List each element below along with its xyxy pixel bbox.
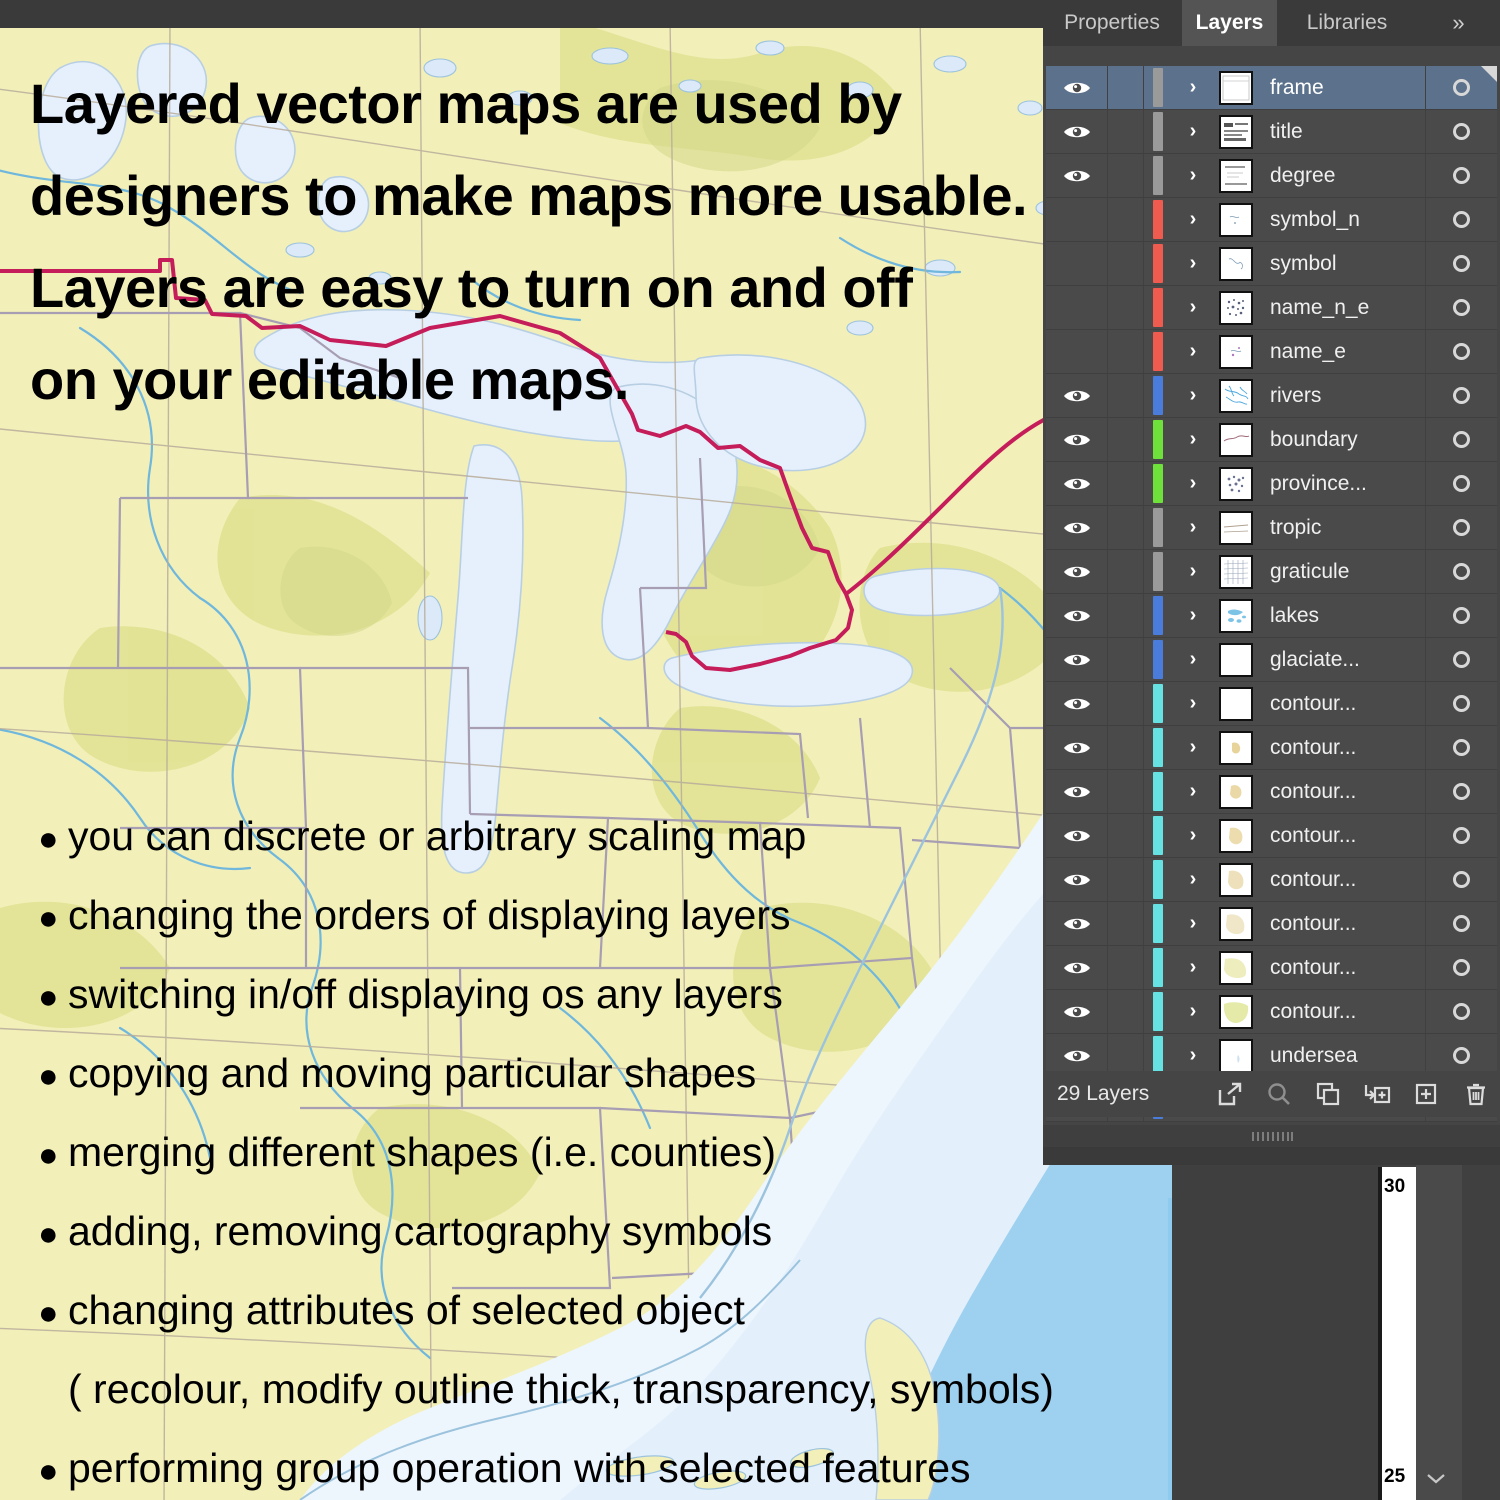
- chevron-right-icon[interactable]: ›: [1172, 604, 1214, 627]
- layer-color-swatch: [1144, 286, 1172, 329]
- layer-name-label[interactable]: symbol_n: [1258, 208, 1425, 232]
- layer-lock-toggle[interactable]: [1108, 418, 1144, 461]
- bullet-item: ●switching in/off displaying os any laye…: [38, 956, 1158, 1035]
- layer-row[interactable]: ›degree: [1046, 154, 1497, 198]
- layer-target-circle[interactable]: [1425, 990, 1497, 1033]
- layer-color-swatch: [1144, 198, 1172, 241]
- layer-visibility-toggle[interactable]: [1046, 110, 1108, 153]
- panel-base-bar: [1043, 1147, 1500, 1165]
- layer-visibility-toggle[interactable]: [1046, 946, 1108, 989]
- layer-color-swatch: [1144, 990, 1172, 1033]
- layer-thumbnail: [1214, 71, 1258, 105]
- layer-name-label[interactable]: name_e: [1258, 340, 1425, 364]
- target-circle-icon: [1453, 1047, 1470, 1064]
- layer-name-label[interactable]: contour...: [1258, 780, 1425, 804]
- layer-target-circle[interactable]: [1425, 902, 1497, 945]
- panel-tab-bar: Properties Layers Libraries »: [1043, 0, 1500, 46]
- layer-visibility-toggle[interactable]: [1046, 770, 1108, 813]
- release-to-layers-icon[interactable]: [1206, 1071, 1255, 1117]
- layer-target-circle[interactable]: [1425, 594, 1497, 637]
- chevron-right-icon[interactable]: ›: [1172, 472, 1214, 495]
- layer-color-bar: [1153, 640, 1163, 679]
- layer-target-circle[interactable]: [1425, 330, 1497, 373]
- layer-thumbnail-art: [1219, 1039, 1253, 1073]
- layer-color-swatch: [1144, 594, 1172, 637]
- layer-target-circle[interactable]: [1425, 462, 1497, 505]
- chevron-right-icon[interactable]: ›: [1172, 384, 1214, 407]
- layer-thumbnail-art: [1219, 775, 1253, 809]
- layer-visibility-toggle[interactable]: [1046, 242, 1108, 285]
- layer-thumbnail: [1214, 203, 1258, 237]
- bullet-item: ●( recolour, modify outline thick, trans…: [38, 1351, 1158, 1430]
- layer-row[interactable]: ›contour...: [1046, 770, 1497, 814]
- target-circle-icon: [1453, 79, 1470, 96]
- layer-color-swatch: [1144, 330, 1172, 373]
- layer-color-swatch: [1144, 154, 1172, 197]
- bullet-marker-icon: ●: [38, 801, 68, 877]
- layer-name-label[interactable]: undersea: [1258, 1044, 1425, 1068]
- layer-visibility-toggle[interactable]: [1046, 418, 1108, 461]
- layer-target-circle[interactable]: [1425, 858, 1497, 901]
- layer-name-label[interactable]: contour...: [1258, 692, 1425, 716]
- eye-icon: [1062, 430, 1092, 450]
- target-circle-icon: [1453, 475, 1470, 492]
- layer-name-label[interactable]: tropic: [1258, 516, 1425, 540]
- layer-name-label[interactable]: contour...: [1258, 824, 1425, 848]
- layer-color-swatch: [1144, 858, 1172, 901]
- layer-target-circle[interactable]: [1425, 242, 1497, 285]
- layer-color-swatch: [1144, 462, 1172, 505]
- degree-label-30: 30: [1384, 1176, 1405, 1198]
- target-circle-icon: [1453, 343, 1470, 360]
- layer-color-bar: [1153, 420, 1163, 459]
- new-sublayer-icon[interactable]: [1353, 1071, 1402, 1117]
- layer-thumbnail: [1214, 643, 1258, 677]
- layer-lock-toggle[interactable]: [1108, 154, 1144, 197]
- layer-color-bar: [1153, 288, 1163, 327]
- bullet-text: adding, removing cartography symbols: [68, 1193, 772, 1269]
- layer-row[interactable]: ›name_n_e: [1046, 286, 1497, 330]
- layer-visibility-toggle[interactable]: [1046, 374, 1108, 417]
- layer-target-circle[interactable]: [1425, 682, 1497, 725]
- layer-thumbnail-art: [1219, 863, 1253, 897]
- layer-name-label[interactable]: province...: [1258, 472, 1425, 496]
- eye-icon: [1062, 826, 1092, 846]
- layers-panel[interactable]: Properties Layers Libraries » ›frame›tit…: [1043, 0, 1500, 1165]
- duplicate-layer-icon[interactable]: [1304, 1071, 1353, 1117]
- target-circle-icon: [1453, 739, 1470, 756]
- chevron-right-icon[interactable]: ›: [1172, 340, 1214, 363]
- layer-visibility-toggle[interactable]: [1046, 330, 1108, 373]
- layers-list-body: ›frame›title›degree›symbol_n›symbol›name…: [1043, 46, 1500, 1093]
- panel-resize-grip[interactable]: [1043, 1125, 1500, 1147]
- layer-color-bar: [1153, 904, 1163, 943]
- chevron-right-icon[interactable]: ›: [1172, 868, 1214, 891]
- target-circle-icon: [1453, 959, 1470, 976]
- target-circle-icon: [1453, 651, 1470, 668]
- layer-thumbnail: [1214, 291, 1258, 325]
- bullet-text: you can discrete or arbitrary scaling ma…: [68, 798, 806, 874]
- layer-lock-toggle[interactable]: [1108, 902, 1144, 945]
- layer-visibility-toggle[interactable]: [1046, 550, 1108, 593]
- layer-thumbnail-art: [1219, 467, 1253, 501]
- chevron-right-icon[interactable]: ›: [1172, 648, 1214, 671]
- layer-color-swatch: [1144, 242, 1172, 285]
- layer-color-bar: [1153, 376, 1163, 415]
- bullet-item: ●merging different shapes (i.e. counties…: [38, 1114, 1158, 1193]
- eye-icon: [1062, 562, 1092, 582]
- layer-thumbnail: [1214, 1039, 1258, 1073]
- layer-name-label[interactable]: glaciate...: [1258, 648, 1425, 672]
- target-circle-icon: [1453, 1003, 1470, 1020]
- bullet-marker-icon: ●: [38, 1196, 68, 1272]
- layer-target-circle[interactable]: [1425, 946, 1497, 989]
- layer-color-bar: [1153, 200, 1163, 239]
- layer-lock-toggle[interactable]: [1108, 638, 1144, 681]
- layer-color-bar: [1153, 816, 1163, 855]
- eye-icon: [1062, 870, 1092, 890]
- layer-thumbnail-art: [1219, 951, 1253, 985]
- layer-color-swatch: [1144, 506, 1172, 549]
- layer-thumbnail: [1214, 731, 1258, 765]
- layer-row[interactable]: ›title: [1046, 110, 1497, 154]
- layer-target-circle[interactable]: [1425, 154, 1497, 197]
- layer-color-bar: [1153, 992, 1163, 1031]
- layer-name-label[interactable]: boundary: [1258, 428, 1425, 452]
- eye-icon: [1062, 606, 1092, 626]
- layer-thumbnail: [1214, 951, 1258, 985]
- layer-color-swatch: [1144, 66, 1172, 109]
- target-circle-icon: [1453, 255, 1470, 272]
- eye-icon: [1062, 122, 1092, 142]
- layer-lock-toggle[interactable]: [1108, 726, 1144, 769]
- layer-lock-toggle[interactable]: [1108, 242, 1144, 285]
- layer-row[interactable]: ›contour...: [1046, 902, 1497, 946]
- chevron-right-icon[interactable]: ›: [1172, 692, 1214, 715]
- layer-row[interactable]: ›rivers: [1046, 374, 1497, 418]
- layer-row[interactable]: ›contour...: [1046, 726, 1497, 770]
- layer-name-label[interactable]: contour...: [1258, 1000, 1425, 1024]
- target-circle-icon: [1453, 783, 1470, 800]
- layer-thumbnail: [1214, 159, 1258, 193]
- layer-thumbnail: [1214, 599, 1258, 633]
- bullet-text: copying and moving particular shapes: [68, 1035, 756, 1111]
- chevron-right-icon[interactable]: ›: [1172, 824, 1214, 847]
- target-circle-icon: [1453, 871, 1470, 888]
- layer-thumbnail-art: [1219, 731, 1253, 765]
- layer-visibility-toggle[interactable]: [1046, 66, 1108, 109]
- layer-color-bar: [1153, 1036, 1163, 1075]
- layer-lock-toggle[interactable]: [1108, 770, 1144, 813]
- layer-name-label[interactable]: symbol: [1258, 252, 1425, 276]
- layer-lock-toggle[interactable]: [1108, 66, 1144, 109]
- layer-visibility-toggle[interactable]: [1046, 506, 1108, 549]
- bullet-item: ●adding, removing cartography symbols: [38, 1193, 1158, 1272]
- layer-lock-toggle[interactable]: [1108, 110, 1144, 153]
- layer-lock-toggle[interactable]: [1108, 462, 1144, 505]
- layer-color-bar: [1153, 68, 1163, 107]
- bullet-text: merging different shapes (i.e. counties): [68, 1114, 776, 1190]
- layer-thumbnail-art: [1219, 71, 1253, 105]
- layer-visibility-toggle[interactable]: [1046, 682, 1108, 725]
- layer-lock-toggle[interactable]: [1108, 550, 1144, 593]
- target-circle-icon: [1453, 167, 1470, 184]
- layer-lock-toggle[interactable]: [1108, 286, 1144, 329]
- right-dark-gutter-outer: [1462, 1165, 1500, 1500]
- layer-row[interactable]: ›tropic: [1046, 506, 1497, 550]
- layer-color-bar: [1153, 860, 1163, 899]
- delete-layer-icon[interactable]: [1451, 1071, 1500, 1117]
- layer-visibility-toggle[interactable]: [1046, 902, 1108, 945]
- layer-target-circle[interactable]: [1425, 506, 1497, 549]
- layer-thumbnail: [1214, 335, 1258, 369]
- layer-thumbnail: [1214, 555, 1258, 589]
- chevron-right-icon[interactable]: ›: [1172, 296, 1214, 319]
- eye-icon: [1062, 386, 1092, 406]
- bullet-item: ●performing group operation with selecte…: [38, 1430, 1158, 1500]
- layer-lock-toggle[interactable]: [1108, 814, 1144, 857]
- layer-color-bar: [1153, 508, 1163, 547]
- bullet-text: ( recolour, modify outline thick, transp…: [68, 1351, 1054, 1427]
- layer-row[interactable]: ›contour...: [1046, 990, 1497, 1034]
- layer-visibility-toggle[interactable]: [1046, 198, 1108, 241]
- layer-color-swatch: [1144, 374, 1172, 417]
- layer-color-bar: [1153, 552, 1163, 591]
- chevron-right-icon[interactable]: ›: [1172, 252, 1214, 275]
- headline-text: Layered vector maps are used by designer…: [30, 58, 1040, 426]
- layer-thumbnail: [1214, 115, 1258, 149]
- headline-line-1: Layered vector maps are used by: [30, 58, 1040, 150]
- layer-visibility-toggle[interactable]: [1046, 990, 1108, 1033]
- layer-name-label[interactable]: contour...: [1258, 736, 1425, 760]
- bullet-item: ●changing the orders of displaying layer…: [38, 877, 1158, 956]
- eye-icon: [1062, 914, 1092, 934]
- layer-color-bar: [1153, 948, 1163, 987]
- layer-visibility-toggle[interactable]: [1046, 594, 1108, 637]
- bullet-text: changing the orders of displaying layers: [68, 877, 791, 953]
- eye-icon: [1062, 1002, 1092, 1022]
- layer-row[interactable]: ›contour...: [1046, 814, 1497, 858]
- target-circle-icon: [1453, 387, 1470, 404]
- layer-name-label[interactable]: rivers: [1258, 384, 1425, 408]
- layer-name-label[interactable]: contour...: [1258, 912, 1425, 936]
- layer-row[interactable]: ›glaciate...: [1046, 638, 1497, 682]
- headline-line-2: designers to make maps more usable.: [30, 150, 1040, 242]
- chevron-right-icon[interactable]: ›: [1172, 560, 1214, 583]
- chevron-right-icon[interactable]: ›: [1172, 1000, 1214, 1023]
- layer-thumbnail: [1214, 907, 1258, 941]
- chevron-right-icon[interactable]: ›: [1172, 956, 1214, 979]
- layer-color-bar: [1153, 112, 1163, 151]
- layer-visibility-toggle[interactable]: [1046, 638, 1108, 681]
- layer-thumbnail: [1214, 819, 1258, 853]
- layer-color-swatch: [1144, 418, 1172, 461]
- layer-row[interactable]: ›contour...: [1046, 946, 1497, 990]
- layer-color-swatch: [1144, 110, 1172, 153]
- bullet-marker-icon: ●: [38, 880, 68, 956]
- target-circle-icon: [1453, 607, 1470, 624]
- layer-color-swatch: [1144, 726, 1172, 769]
- layer-lock-toggle[interactable]: [1108, 990, 1144, 1033]
- layer-row[interactable]: ›graticule: [1046, 550, 1497, 594]
- layer-thumbnail-art: [1219, 599, 1253, 633]
- layer-thumbnail-art: [1219, 907, 1253, 941]
- layer-thumbnail-art: [1219, 687, 1253, 721]
- layer-color-swatch: [1144, 638, 1172, 681]
- layer-color-bar: [1153, 772, 1163, 811]
- bullet-item: ●you can discrete or arbitrary scaling m…: [38, 798, 1158, 877]
- selected-layer-indicator: [1481, 66, 1497, 82]
- layer-thumbnail: [1214, 995, 1258, 1029]
- layer-row[interactable]: ›name_e: [1046, 330, 1497, 374]
- layer-lock-toggle[interactable]: [1108, 682, 1144, 725]
- eye-icon: [1062, 958, 1092, 978]
- target-circle-icon: [1453, 299, 1470, 316]
- layer-lock-toggle[interactable]: [1108, 858, 1144, 901]
- bullet-text: performing group operation with selected…: [68, 1430, 971, 1500]
- layer-visibility-toggle[interactable]: [1046, 814, 1108, 857]
- tab-libraries[interactable]: Libraries: [1278, 0, 1416, 46]
- layer-color-bar: [1153, 684, 1163, 723]
- layer-visibility-toggle[interactable]: [1046, 154, 1108, 197]
- layer-target-circle[interactable]: [1425, 814, 1497, 857]
- layer-lock-toggle[interactable]: [1108, 946, 1144, 989]
- layer-thumbnail-art: [1219, 995, 1253, 1029]
- layer-color-bar: [1153, 156, 1163, 195]
- locate-object-icon[interactable]: [1255, 1071, 1304, 1117]
- chevron-right-icon[interactable]: ›: [1172, 912, 1214, 935]
- headline-line-3: Layers are easy to turn on and off: [30, 242, 1040, 334]
- layer-row[interactable]: ›contour...: [1046, 682, 1497, 726]
- layer-thumbnail-art: [1219, 643, 1253, 677]
- target-circle-icon: [1453, 211, 1470, 228]
- layer-name-label[interactable]: name_n_e: [1258, 296, 1425, 320]
- chevron-right-icon[interactable]: ›: [1172, 76, 1214, 99]
- target-circle-icon: [1453, 563, 1470, 580]
- layer-name-label[interactable]: title: [1258, 120, 1425, 144]
- layer-thumbnail: [1214, 379, 1258, 413]
- new-layer-icon[interactable]: [1402, 1071, 1451, 1117]
- layer-thumbnail-art: [1219, 379, 1253, 413]
- layer-target-circle[interactable]: [1425, 286, 1497, 329]
- target-circle-icon: [1453, 123, 1470, 140]
- eye-icon: [1062, 650, 1092, 670]
- layer-target-circle[interactable]: [1425, 550, 1497, 593]
- layer-target-circle[interactable]: [1425, 638, 1497, 681]
- layer-name-label[interactable]: degree: [1258, 164, 1425, 188]
- layer-thumbnail: [1214, 775, 1258, 809]
- target-circle-icon: [1453, 695, 1470, 712]
- layer-color-swatch: [1144, 550, 1172, 593]
- tab-layers[interactable]: Layers: [1182, 0, 1277, 46]
- layer-target-circle[interactable]: [1425, 418, 1497, 461]
- tab-properties[interactable]: Properties: [1043, 0, 1181, 46]
- layer-visibility-toggle[interactable]: [1046, 726, 1108, 769]
- bullet-text: switching in/off displaying os any layer…: [68, 956, 783, 1032]
- layer-thumbnail-art: [1219, 819, 1253, 853]
- layers-list: ›frame›title›degree›symbol_n›symbol›name…: [1046, 66, 1497, 1122]
- layer-target-circle[interactable]: [1425, 374, 1497, 417]
- layer-lock-toggle[interactable]: [1108, 330, 1144, 373]
- layer-target-circle[interactable]: [1425, 110, 1497, 153]
- layer-lock-toggle[interactable]: [1108, 506, 1144, 549]
- layer-name-label[interactable]: lakes: [1258, 604, 1425, 628]
- layer-target-circle[interactable]: [1425, 198, 1497, 241]
- target-circle-icon: [1453, 431, 1470, 448]
- eye-icon: [1062, 1046, 1092, 1066]
- layer-visibility-toggle[interactable]: [1046, 858, 1108, 901]
- layer-name-label[interactable]: graticule: [1258, 560, 1425, 584]
- eye-icon: [1062, 694, 1092, 714]
- bullet-marker-icon: ●: [38, 1275, 68, 1351]
- chevron-right-icon[interactable]: ›: [1172, 164, 1214, 187]
- bullet-marker-icon: ●: [38, 1433, 68, 1500]
- chevron-right-icon[interactable]: ›: [1172, 120, 1214, 143]
- page-margin-strip: [1378, 1167, 1416, 1500]
- layer-thumbnail-art: [1219, 203, 1253, 237]
- layer-row[interactable]: ›province...: [1046, 462, 1497, 506]
- layer-thumbnail-art: [1219, 159, 1253, 193]
- eye-icon: [1062, 166, 1092, 186]
- bullet-item: ●copying and moving particular shapes: [38, 1035, 1158, 1114]
- layer-name-label[interactable]: contour...: [1258, 956, 1425, 980]
- chevron-right-icon[interactable]: ›: [1172, 428, 1214, 451]
- bullet-marker-icon: ●: [38, 1038, 68, 1114]
- chevron-right-icon[interactable]: ›: [1172, 1044, 1214, 1067]
- layer-target-circle[interactable]: [1425, 726, 1497, 769]
- layer-name-label[interactable]: contour...: [1258, 868, 1425, 892]
- chevron-down-icon[interactable]: [1424, 1470, 1448, 1486]
- layer-name-label[interactable]: frame: [1258, 76, 1425, 100]
- layer-color-swatch: [1144, 946, 1172, 989]
- eye-icon: [1062, 782, 1092, 802]
- layer-row[interactable]: ›frame: [1046, 66, 1497, 110]
- layer-row[interactable]: ›contour...: [1046, 858, 1497, 902]
- chevron-right-icon[interactable]: ›: [1172, 516, 1214, 539]
- layer-thumbnail: [1214, 687, 1258, 721]
- eye-icon: [1062, 738, 1092, 758]
- layer-lock-toggle[interactable]: [1108, 594, 1144, 637]
- layer-row[interactable]: ›boundary: [1046, 418, 1497, 462]
- layer-color-bar: [1153, 728, 1163, 767]
- chevron-right-icon[interactable]: ›: [1172, 208, 1214, 231]
- layer-row[interactable]: ›symbol: [1046, 242, 1497, 286]
- layer-target-circle[interactable]: [1425, 770, 1497, 813]
- chevron-right-icon[interactable]: ›: [1172, 736, 1214, 759]
- layer-color-bar: [1153, 332, 1163, 371]
- target-circle-icon: [1453, 519, 1470, 536]
- bullet-marker-icon: ●: [38, 959, 68, 1035]
- layer-thumbnail: [1214, 247, 1258, 281]
- layer-lock-toggle[interactable]: [1108, 374, 1144, 417]
- eye-icon: [1062, 474, 1092, 494]
- layer-row[interactable]: ›lakes: [1046, 594, 1497, 638]
- chevron-right-icon[interactable]: ›: [1172, 780, 1214, 803]
- layer-lock-toggle[interactable]: [1108, 198, 1144, 241]
- layer-visibility-toggle[interactable]: [1046, 286, 1108, 329]
- layer-thumbnail-art: [1219, 291, 1253, 325]
- layer-thumbnail: [1214, 511, 1258, 545]
- layer-visibility-toggle[interactable]: [1046, 462, 1108, 505]
- layer-thumbnail-art: [1219, 247, 1253, 281]
- bullet-item: ●changing attributes of selected object: [38, 1272, 1158, 1351]
- panel-overflow-icon[interactable]: »: [1417, 0, 1500, 46]
- layer-row[interactable]: ›symbol_n: [1046, 198, 1497, 242]
- layer-color-bar: [1153, 596, 1163, 635]
- layer-color-swatch: [1144, 770, 1172, 813]
- layer-thumbnail-art: [1219, 511, 1253, 545]
- layer-color-swatch: [1144, 902, 1172, 945]
